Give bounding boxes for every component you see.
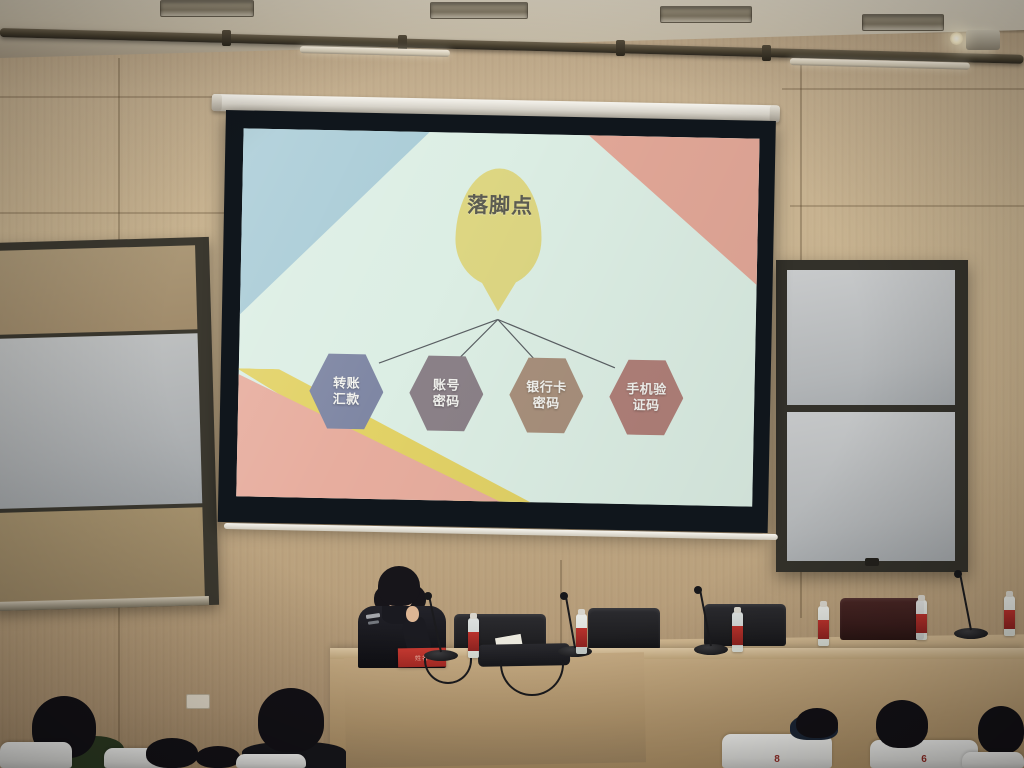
roller-end-cap (212, 94, 222, 111)
spotlight-bulb-icon (950, 32, 963, 45)
diagram-node-row: 转账 汇款 账号 密码 银行卡 密码 手机验 证 (238, 350, 755, 438)
podium-table-left-section (344, 652, 646, 768)
bottle-label (818, 620, 829, 639)
water-bottle (732, 612, 743, 652)
ceiling-vent (160, 0, 254, 17)
whiteboard-latch[interactable] (865, 558, 879, 566)
diagram-root-node: 落脚点 (454, 169, 543, 341)
bottle-label (1004, 610, 1015, 629)
node-label-line2: 证码 (632, 397, 659, 414)
audience-head (258, 688, 324, 752)
audience-chair (962, 752, 1024, 768)
audience-head (796, 708, 838, 738)
whiteboard-lower-gap (0, 507, 205, 603)
audience-head (146, 738, 198, 768)
bottle-cap (820, 601, 827, 607)
wall-outlet (186, 694, 210, 709)
lecture-hall-photo: 落脚点 转账 汇款 账号 密码 银行卡 (0, 0, 1024, 768)
whiteboard-upper-gap (0, 245, 197, 335)
wall-seam (782, 88, 1024, 90)
node-label-line1: 银行卡 (526, 379, 567, 396)
rail-clip (222, 30, 231, 46)
wall-seam (0, 212, 230, 214)
node-label-line2: 汇款 (333, 391, 360, 408)
rail-clip (762, 45, 771, 61)
audience-head (876, 700, 928, 748)
node-transfer-remittance: 转账 汇款 (309, 352, 385, 431)
water-bottle (916, 600, 927, 640)
node-label-line2: 密码 (532, 395, 559, 412)
wall-seam (0, 96, 215, 98)
rail-clip (616, 40, 625, 56)
audience-chair (236, 754, 306, 768)
node-label-line1: 转账 (333, 375, 360, 392)
balloon-tip (464, 253, 533, 312)
slide-canvas: 落脚点 转账 汇款 账号 密码 银行卡 (236, 128, 759, 506)
projected-slide: 落脚点 转账 汇款 账号 密码 银行卡 (236, 128, 759, 506)
table-chair (840, 598, 924, 640)
chair-number: 8 (722, 754, 832, 765)
presenter-hand (406, 606, 419, 622)
node-phone-verification-code: 手机验 证码 (609, 358, 685, 437)
audience-head (196, 746, 240, 768)
left-whiteboard (0, 237, 219, 611)
bottle-cap (1006, 591, 1013, 597)
wall-seam (790, 205, 1024, 207)
water-bottle (818, 606, 829, 646)
bottle-cap (734, 607, 741, 613)
bottle-cap (918, 595, 925, 601)
ceiling-vent (660, 6, 752, 23)
microphone-head (424, 592, 432, 600)
table-chair (588, 608, 660, 650)
bottle-label (576, 628, 587, 647)
node-label-line2: 密码 (433, 393, 460, 410)
root-node-label: 落脚点 (457, 195, 543, 219)
node-bank-card-password: 银行卡 密码 (509, 356, 585, 435)
bottle-label (732, 626, 743, 645)
node-label-line1: 手机验 (626, 381, 667, 398)
node-account-password: 账号 密码 (409, 354, 485, 433)
whiteboard-panel (0, 333, 202, 509)
screen-border: 落脚点 转账 汇款 账号 密码 银行卡 (218, 110, 776, 533)
right-whiteboard (776, 260, 968, 572)
presenter-hair-top (378, 566, 420, 606)
audience-chair (0, 742, 72, 768)
bottle-label (468, 632, 479, 651)
water-bottle (468, 618, 479, 658)
bottle-cap (578, 609, 585, 615)
projection-screen-assembly: 落脚点 转账 汇款 账号 密码 银行卡 (212, 94, 780, 542)
whiteboard-panel-bottom (787, 412, 955, 561)
roller-end-cap (770, 105, 780, 122)
bottle-cap (470, 613, 477, 619)
water-bottle (1004, 596, 1015, 636)
microphone-head (560, 592, 568, 600)
microphone-head (954, 570, 962, 578)
ceiling-spotlight (966, 30, 1000, 50)
whiteboard-panel-top (787, 270, 955, 405)
ceiling-vent (430, 2, 528, 19)
audience-head (978, 706, 1024, 754)
node-label-line1: 账号 (433, 377, 460, 394)
microphone-head (694, 586, 702, 594)
water-bottle (576, 614, 587, 654)
table-chair (704, 604, 786, 646)
ceiling-vent (862, 14, 944, 31)
bottle-label (916, 614, 927, 633)
